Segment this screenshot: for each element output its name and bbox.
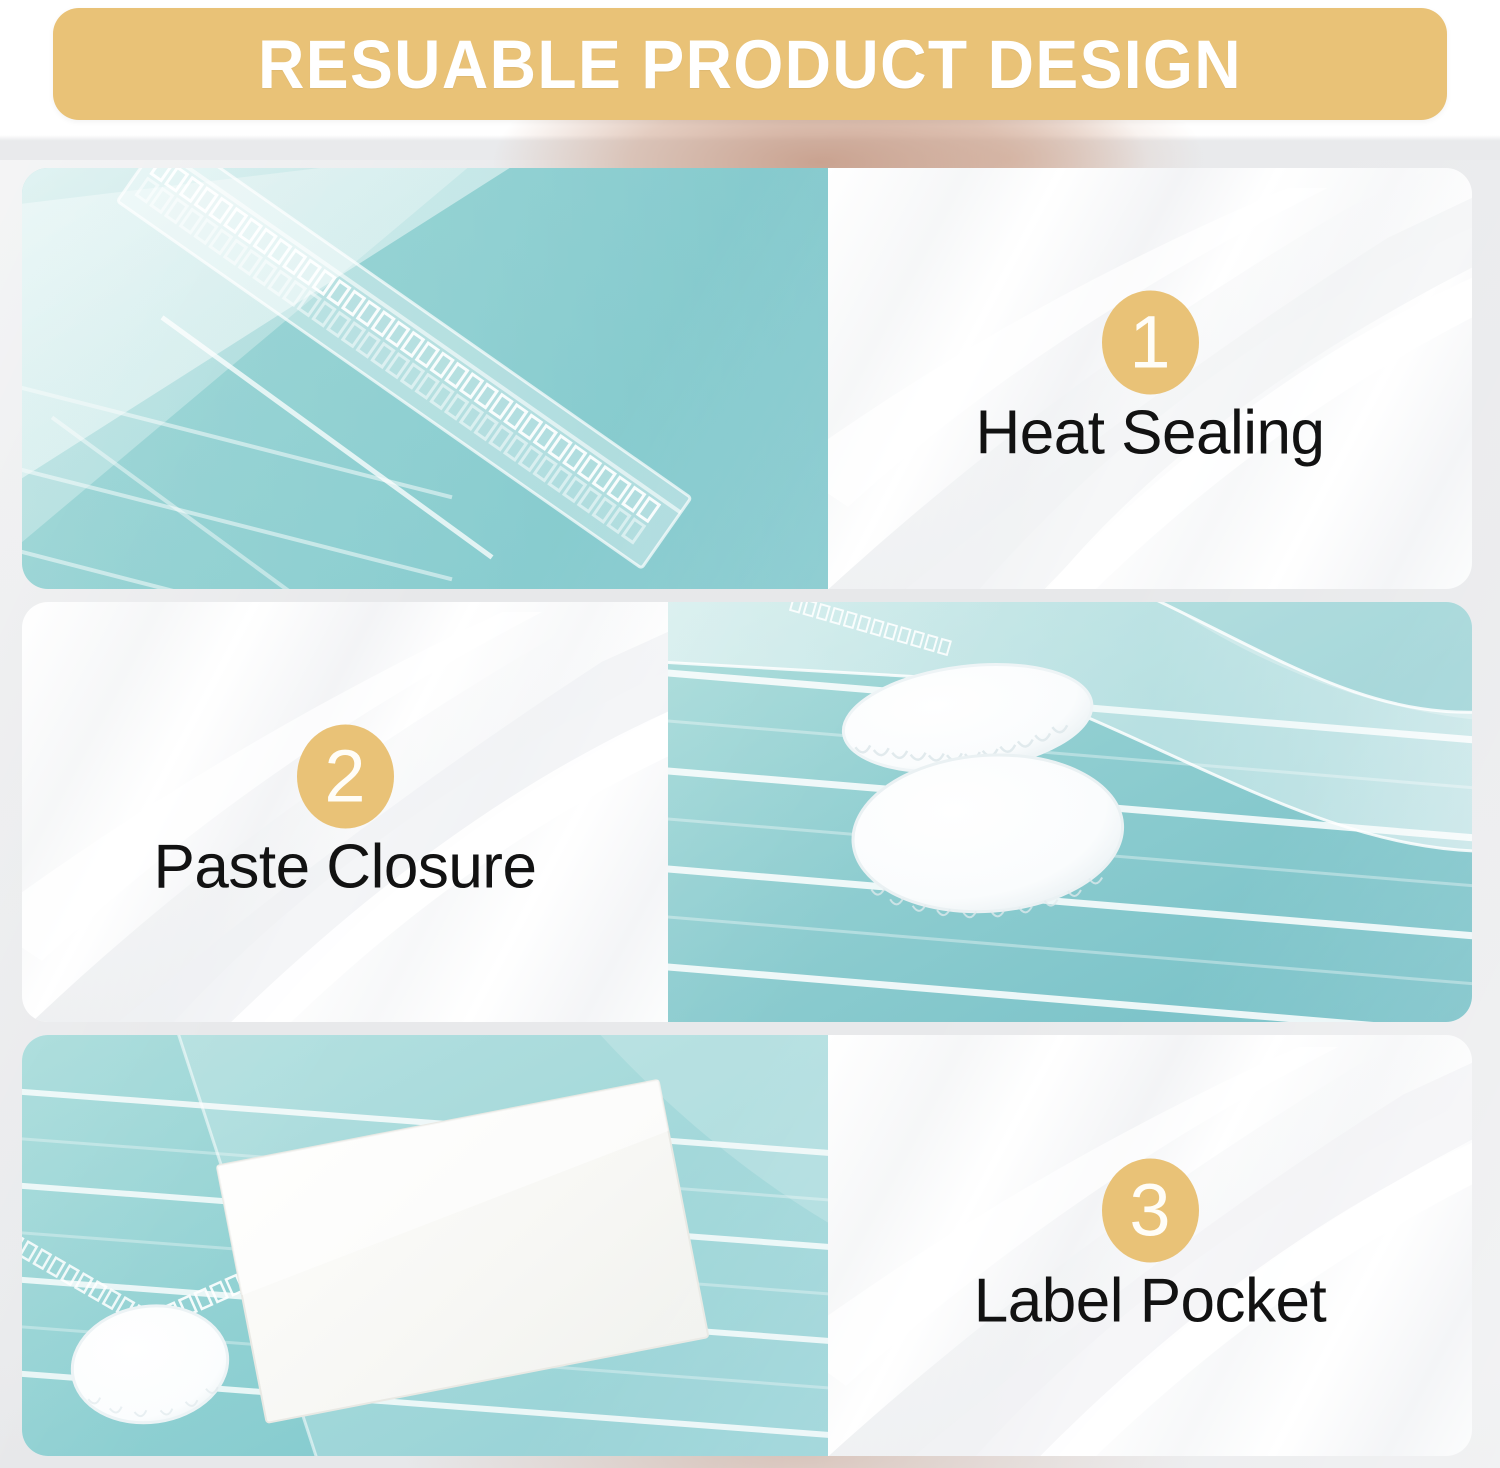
step-number-3: 3 [1129, 1173, 1170, 1247]
step-badge-3: 3 [1102, 1158, 1199, 1262]
feature-caption-2: 2 Paste Closure [22, 602, 668, 1023]
caption-content-1: 1 Heat Sealing [828, 291, 1472, 466]
feature-caption-1: 1 Heat Sealing [828, 168, 1472, 589]
step-number-1: 1 [1129, 306, 1170, 380]
step-badge-2: 2 [297, 724, 394, 828]
header-banner: RESUABLE PRODUCT DESIGN [53, 8, 1447, 120]
step-badge-1: 1 [1102, 291, 1199, 395]
step-number-2: 2 [324, 739, 365, 813]
feature-row-1: 1 Heat Sealing [22, 168, 1472, 589]
caption-content-2: 2 Paste Closure [22, 724, 668, 899]
feature-row-2: 2 Paste Closure [22, 602, 1472, 1023]
hook-and-loop-velcro-dots-photo [668, 602, 1472, 1023]
heat-sealed-edge-photo [22, 168, 828, 589]
page-title: RESUABLE PRODUCT DESIGN [258, 30, 1242, 99]
feature-grid: 1 Heat Sealing [22, 168, 1472, 1456]
feature-label-2: Paste Closure [154, 834, 537, 899]
feature-row-3: 3 Label Pocket [22, 1035, 1472, 1456]
caption-content-3: 3 Label Pocket [828, 1158, 1472, 1333]
feature-caption-3: 3 Label Pocket [828, 1035, 1472, 1456]
feature-label-1: Heat Sealing [975, 401, 1324, 466]
label-card-in-clear-pocket-photo [22, 1035, 828, 1456]
feature-label-3: Label Pocket [974, 1268, 1326, 1333]
